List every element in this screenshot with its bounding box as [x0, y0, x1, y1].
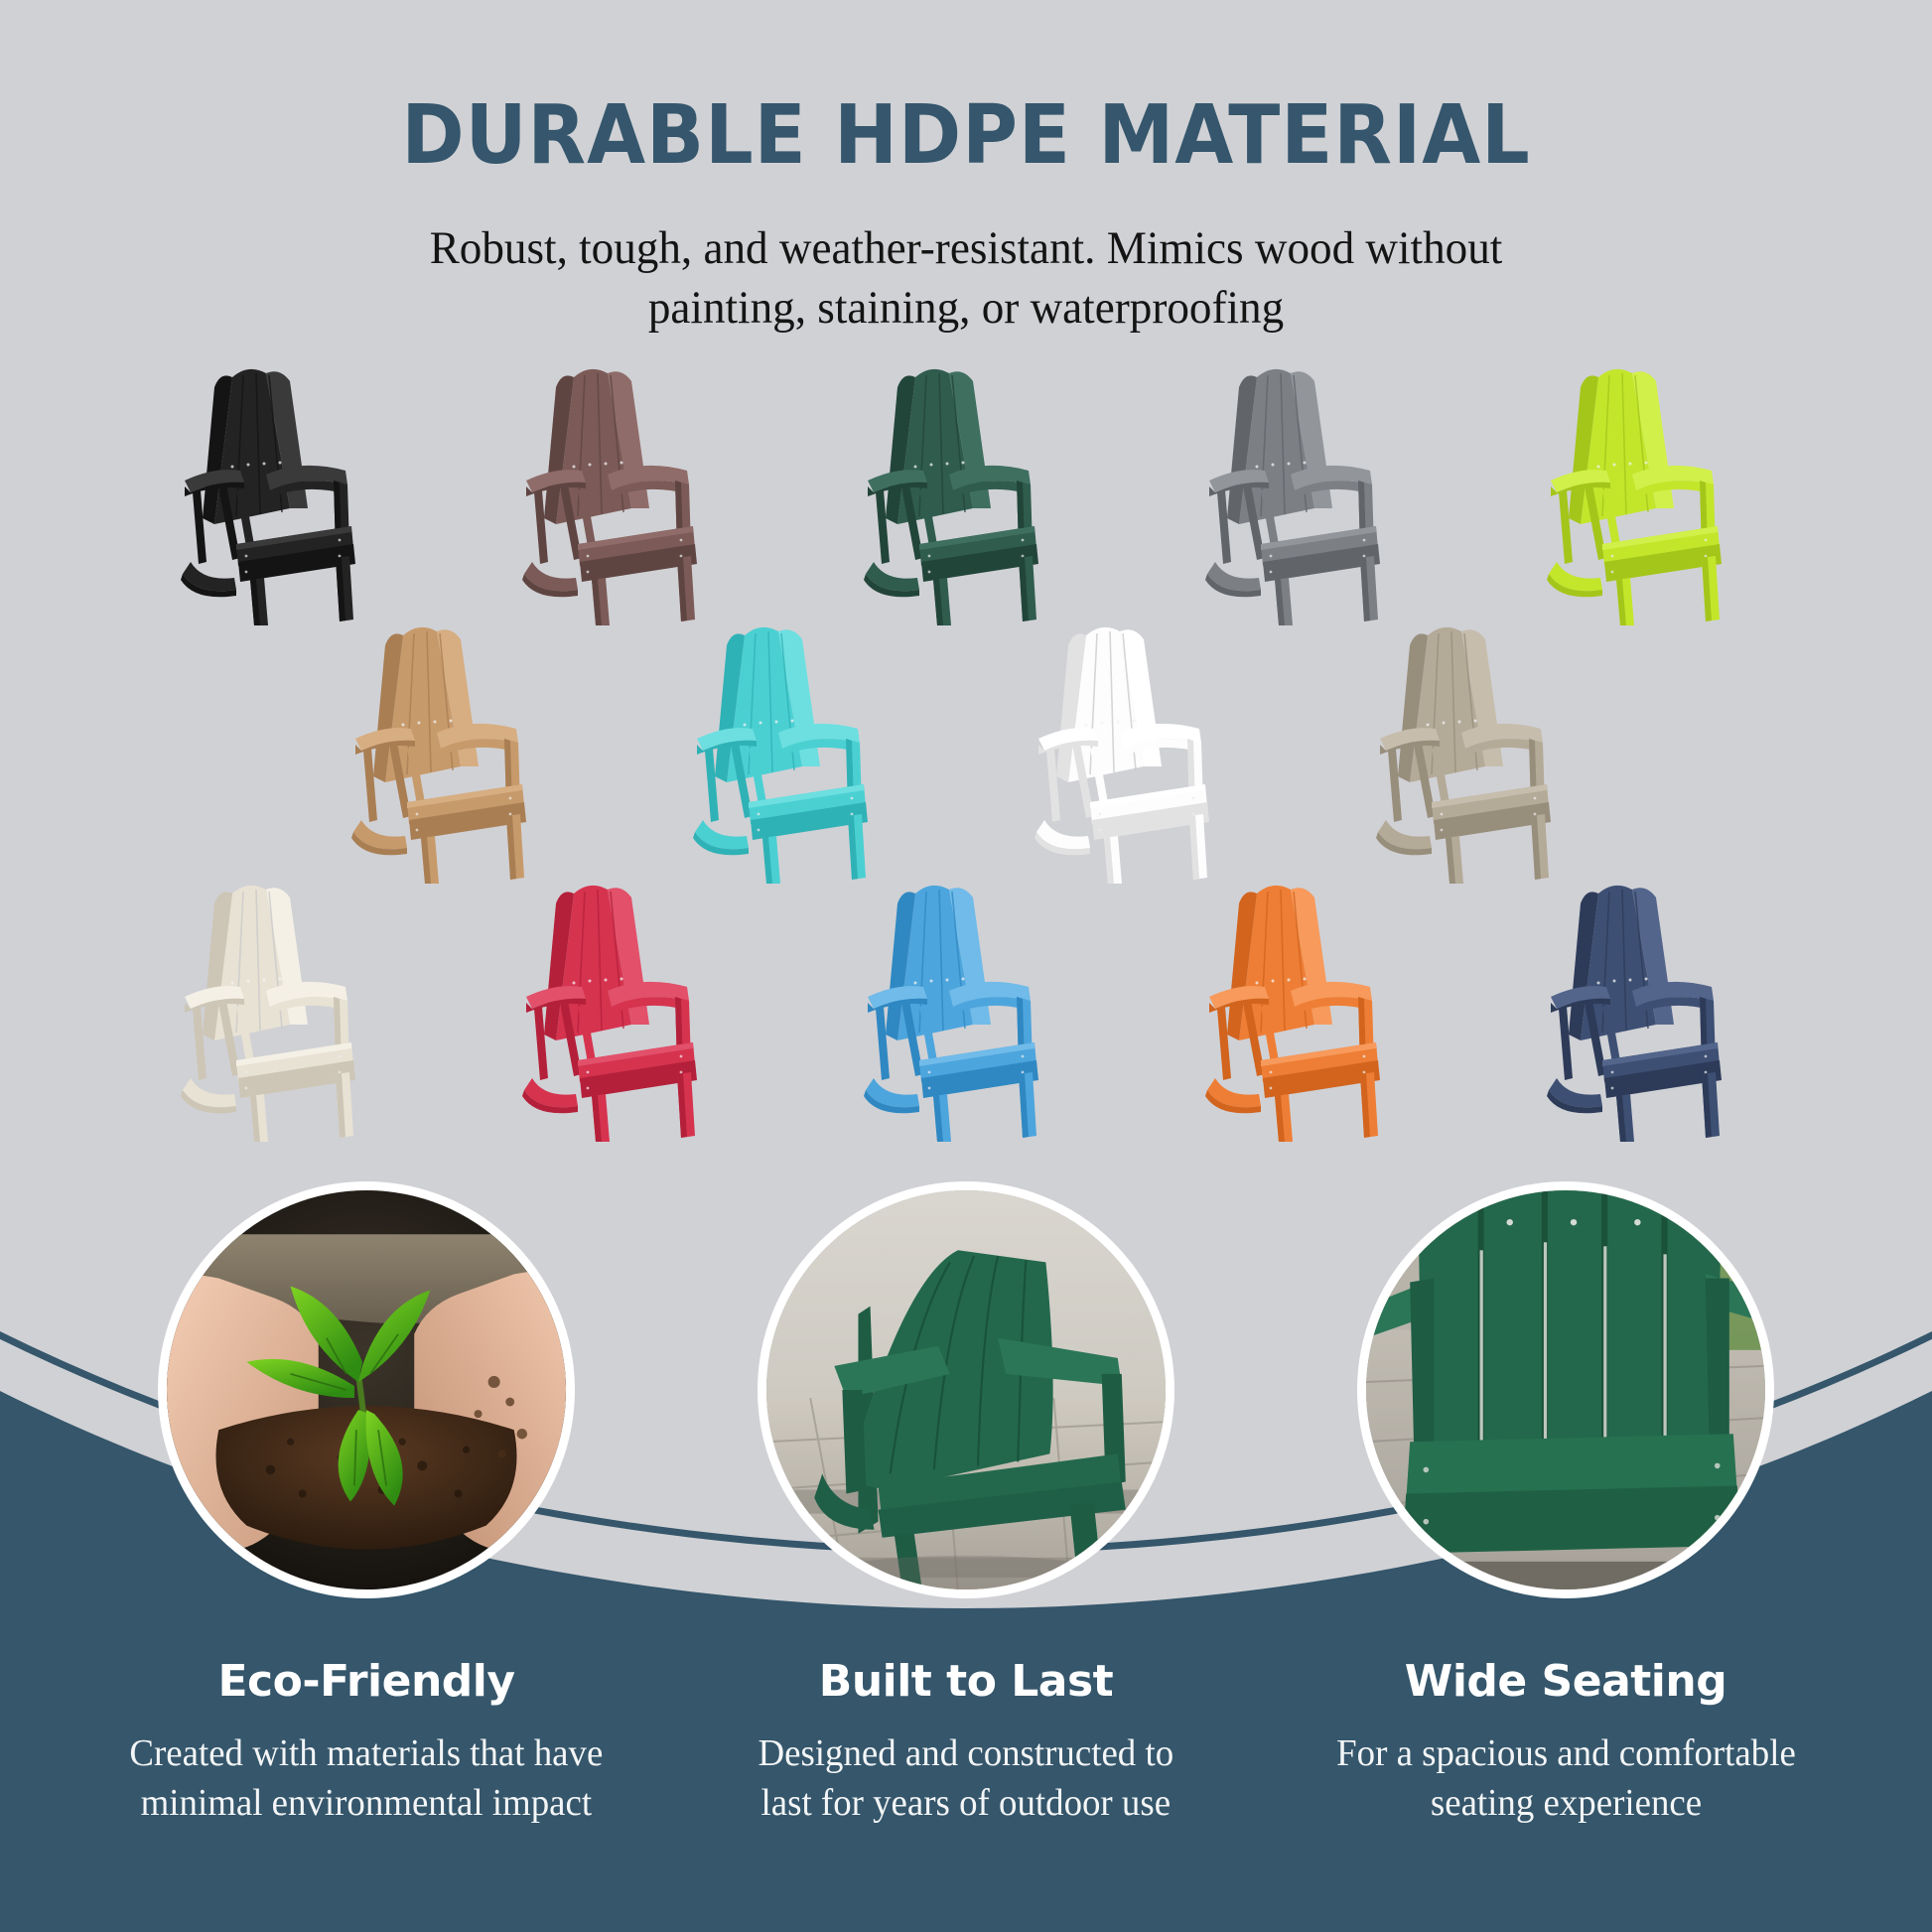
- chair-swatch-navy[interactable]: [1507, 876, 1791, 1142]
- feature-description: Designed and constructed to last for yea…: [759, 1728, 1174, 1828]
- feature-title: Built to Last: [819, 1656, 1113, 1707]
- chair-row-1: [0, 359, 1932, 625]
- feature-eco-friendly: Eco-Friendly Created with materials that…: [112, 1181, 621, 1828]
- chair-swatch-brown[interactable]: [483, 359, 766, 625]
- header: DURABLE HDPE MATERIAL Robust, tough, and…: [0, 0, 1932, 338]
- chair-swatch-lime[interactable]: [1507, 359, 1791, 625]
- chair-row-2: [0, 618, 1932, 884]
- chair-swatch-ivory[interactable]: [141, 876, 425, 1142]
- subtitle-line-1: Robust, tough, and weather-resistant. Mi…: [39, 218, 1893, 278]
- feature-title: Eco-Friendly: [217, 1656, 514, 1707]
- feature-desc-line-2: seating experience: [1336, 1778, 1796, 1828]
- chair-swatch-light-blue[interactable]: [824, 876, 1108, 1142]
- chair-swatch-red[interactable]: [483, 876, 766, 1142]
- feature-desc-line-2: minimal environmental impact: [130, 1778, 604, 1828]
- page-subtitle: Robust, tough, and weather-resistant. Mi…: [39, 218, 1893, 338]
- feature-description: For a spacious and comfortable seating e…: [1336, 1728, 1796, 1828]
- feature-built-to-last: Built to Last Designed and constructed t…: [712, 1181, 1220, 1828]
- chair-swatch-khaki[interactable]: [1336, 618, 1620, 884]
- feature-desc-line-1: Created with materials that have: [130, 1728, 604, 1778]
- subtitle-line-2: painting, staining, or waterproofing: [39, 278, 1893, 338]
- feature-desc-line-1: Designed and constructed to: [759, 1728, 1174, 1778]
- chair-color-grid: [0, 359, 1932, 1142]
- feature-title: Wide Seating: [1405, 1656, 1726, 1707]
- chair-swatch-orange[interactable]: [1166, 876, 1449, 1142]
- chair-swatch-white[interactable]: [995, 618, 1279, 884]
- chair-swatch-gray[interactable]: [1166, 359, 1449, 625]
- green-adirondack-chair-icon: [758, 1181, 1174, 1598]
- feature-wide-seating: Wide Seating For a spacious and comforta…: [1311, 1181, 1820, 1828]
- chair-row-3: [0, 876, 1932, 1142]
- feature-description: Created with materials that have minimal…: [130, 1728, 604, 1828]
- chair-swatch-teak[interactable]: [312, 618, 596, 884]
- chair-swatch-dark-green[interactable]: [824, 359, 1108, 625]
- chair-seat-closeup-icon: [1357, 1181, 1774, 1598]
- chair-swatch-black[interactable]: [141, 359, 425, 625]
- chair-swatch-turquoise[interactable]: [653, 618, 937, 884]
- page-title: DURABLE HDPE MATERIAL: [68, 95, 1864, 177]
- feature-desc-line-2: last for years of outdoor use: [759, 1778, 1174, 1828]
- seedling-in-hands-icon: [158, 1181, 575, 1598]
- feature-list: Eco-Friendly Created with materials that…: [0, 1181, 1932, 1828]
- infographic-canvas: DURABLE HDPE MATERIAL Robust, tough, and…: [0, 0, 1932, 1932]
- feature-desc-line-1: For a spacious and comfortable: [1336, 1728, 1796, 1778]
